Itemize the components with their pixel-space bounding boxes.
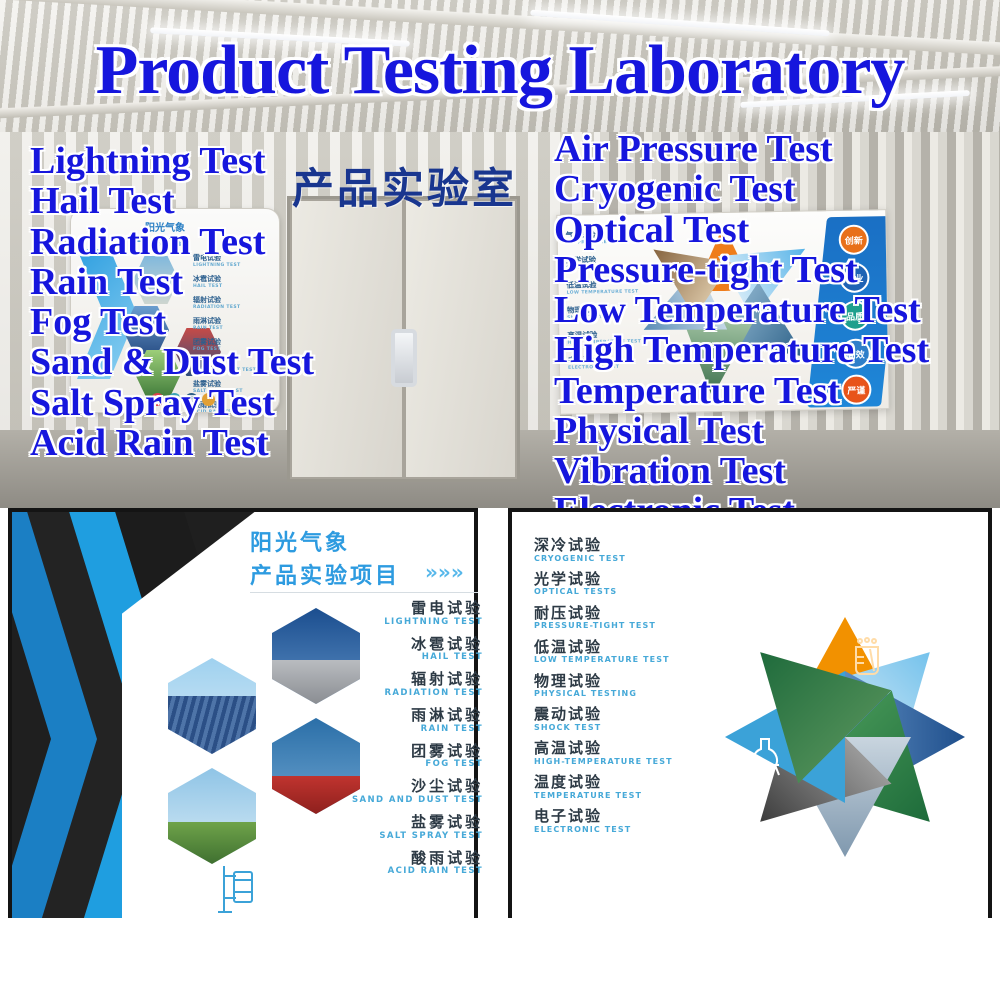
test-item-en: OPTICAL TESTS bbox=[534, 587, 673, 596]
test-item: 耐压试验PRESSURE-TIGHT TEST bbox=[534, 605, 673, 631]
overlay-test-label: Lightning Test bbox=[30, 141, 314, 181]
overlay-test-label: Acid Rain Test bbox=[30, 423, 314, 463]
overlay-test-label: Hail Test bbox=[30, 181, 314, 221]
overlay-left-test-list: Lightning TestHail TestRadiation TestRai… bbox=[30, 141, 314, 463]
test-item-en: ELECTRONIC TEST bbox=[534, 825, 673, 834]
overlay-test-label: Pressure-tight Test bbox=[554, 250, 929, 290]
panel-left-test-list: 雷电试验LIGHTNING TEST冰雹试验HAIL TEST辐射试验RADIA… bbox=[352, 600, 483, 886]
test-item: 温度试验TEMPERATURE TEST bbox=[534, 774, 673, 800]
test-item: 电子试验ELECTRONIC TEST bbox=[534, 808, 673, 834]
lab-door bbox=[287, 196, 520, 482]
test-item-cn: 酸雨试验 bbox=[352, 850, 483, 867]
test-item-en: SALT SPRAY TEST bbox=[352, 831, 483, 841]
test-item: 沙尘试验SAND AND DUST TEST bbox=[352, 778, 483, 805]
test-item-en: HIGH-TEMPERATURE TEST bbox=[534, 757, 673, 766]
flask-stand-icon bbox=[218, 862, 262, 914]
overlay-test-label: Fog Test bbox=[30, 302, 314, 342]
test-item: 低温试验LOW TEMPERATURE TEST bbox=[534, 639, 673, 665]
panel-left-arrows: »»» bbox=[425, 560, 464, 584]
overlay-test-label: Rain Test bbox=[30, 262, 314, 302]
panel-left-heading-line1: 阳光气象 bbox=[250, 525, 350, 557]
test-item: 雨淋试验RAIN TEST bbox=[352, 707, 483, 734]
overlay-test-label: Air Pressure Test bbox=[554, 129, 929, 169]
test-item-cn: 震动试验 bbox=[534, 706, 673, 723]
test-item-cn: 冰雹试验 bbox=[352, 636, 483, 653]
test-item-cn: 团雾试验 bbox=[352, 743, 483, 760]
wall-sign-chinese: 产品实验室 bbox=[292, 155, 517, 216]
test-item: 团雾试验FOG TEST bbox=[352, 743, 483, 770]
page-title: Product Testing Laboratory bbox=[0, 36, 1000, 106]
door-handle bbox=[391, 329, 417, 387]
test-item-cn: 光学试验 bbox=[534, 571, 673, 588]
test-item-cn: 电子试验 bbox=[534, 808, 673, 825]
test-item: 高温试验HIGH-TEMPERATURE TEST bbox=[534, 740, 673, 766]
overlay-test-label: High Temperature Test bbox=[554, 330, 929, 370]
panel-left-heading-line2: 产品实验项目 bbox=[250, 558, 400, 590]
door-leaf-right bbox=[404, 199, 518, 479]
test-item-cn: 耐压试验 bbox=[534, 605, 673, 622]
poster-canvas: 产品实验室 阳光气象 产品实验项目 雷电试验LIGHTNING TEST冰雹试验… bbox=[0, 0, 1000, 1000]
test-item-en: RADIATION TEST bbox=[352, 688, 483, 698]
overlay-test-label: Low Temperature Test bbox=[554, 290, 929, 330]
test-item-cn: 物理试验 bbox=[534, 673, 673, 690]
overlay-test-label: Salt Spray Test bbox=[30, 383, 314, 423]
test-item: 辐射试验RADIATION TEST bbox=[352, 671, 483, 698]
test-item: 冰雹试验HAIL TEST bbox=[352, 636, 483, 663]
slogan-line2: 关爱地球 bbox=[818, 566, 882, 587]
test-item-en: FOG TEST bbox=[352, 759, 483, 769]
round-flask-icon bbox=[745, 735, 785, 777]
beaker-icon bbox=[848, 635, 886, 679]
test-item-cn: 沙尘试验 bbox=[352, 778, 483, 795]
test-item-cn: 辐射试验 bbox=[352, 671, 483, 688]
test-item-en: LIGHTNING TEST bbox=[352, 617, 483, 627]
test-item-en: SAND AND DUST TEST bbox=[352, 795, 483, 805]
overlay-test-label: Sand & Dust Test bbox=[30, 342, 314, 382]
test-item-en: SHOCK TEST bbox=[534, 723, 673, 732]
test-item-en: LOW TEMPERATURE TEST bbox=[534, 655, 673, 664]
test-item-en: ACID RAIN TEST bbox=[352, 866, 483, 876]
test-item: 光学试验OPTICAL TESTS bbox=[534, 571, 673, 597]
overlay-test-label: Radiation Test bbox=[30, 222, 314, 262]
panel-right-test-list: 深冷试验CRYOGENIC TEST光学试验OPTICAL TESTS耐压试验P… bbox=[534, 537, 673, 842]
test-item: 物理试验PHYSICAL TESTING bbox=[534, 673, 673, 699]
test-item-cn: 温度试验 bbox=[534, 774, 673, 791]
test-item-en: CRYOGENIC TEST bbox=[534, 554, 673, 563]
test-item-cn: 低温试验 bbox=[534, 639, 673, 656]
overlay-test-label: Optical Test bbox=[554, 210, 929, 250]
test-item: 酸雨试验ACID RAIN TEST bbox=[352, 850, 483, 877]
test-item: 雷电试验LIGHTNING TEST bbox=[352, 600, 483, 627]
test-item: 震动试验SHOCK TEST bbox=[534, 706, 673, 732]
overlay-test-label: Cryogenic Test bbox=[554, 169, 929, 209]
footer-bar: ☀⚡≈≋ SunWeather ☁☁☁☁ Jinzhou Sunshine Me… bbox=[0, 918, 1000, 1000]
test-item-en: PRESSURE-TIGHT TEST bbox=[534, 621, 673, 630]
test-item-cn: 深冷试验 bbox=[534, 537, 673, 554]
overlay-test-label: Vibration Test bbox=[554, 451, 929, 491]
test-item-cn: 雨淋试验 bbox=[352, 707, 483, 724]
test-item-cn: 高温试验 bbox=[534, 740, 673, 757]
test-item-en: RAIN TEST bbox=[352, 724, 483, 734]
slogan-text: 关注气象 关爱地球 bbox=[818, 545, 882, 587]
overlay-test-label: Temperature Test bbox=[554, 371, 929, 411]
overlay-right-test-list: Air Pressure TestCryogenic TestOptical T… bbox=[554, 129, 929, 532]
overlay-test-label: Physical Test bbox=[554, 411, 929, 451]
test-item-cn: 盐雾试验 bbox=[352, 814, 483, 831]
test-item-en: TEMPERATURE TEST bbox=[534, 791, 673, 800]
test-item-en: HAIL TEST bbox=[352, 652, 483, 662]
test-item-en: PHYSICAL TESTING bbox=[534, 689, 673, 698]
test-item-cn: 雷电试验 bbox=[352, 600, 483, 617]
test-item: 盐雾试验SALT SPRAY TEST bbox=[352, 814, 483, 841]
slogan-line1: 关注气象 bbox=[818, 545, 882, 566]
test-item: 深冷试验CRYOGENIC TEST bbox=[534, 537, 673, 563]
panel-left-divider bbox=[250, 592, 478, 593]
